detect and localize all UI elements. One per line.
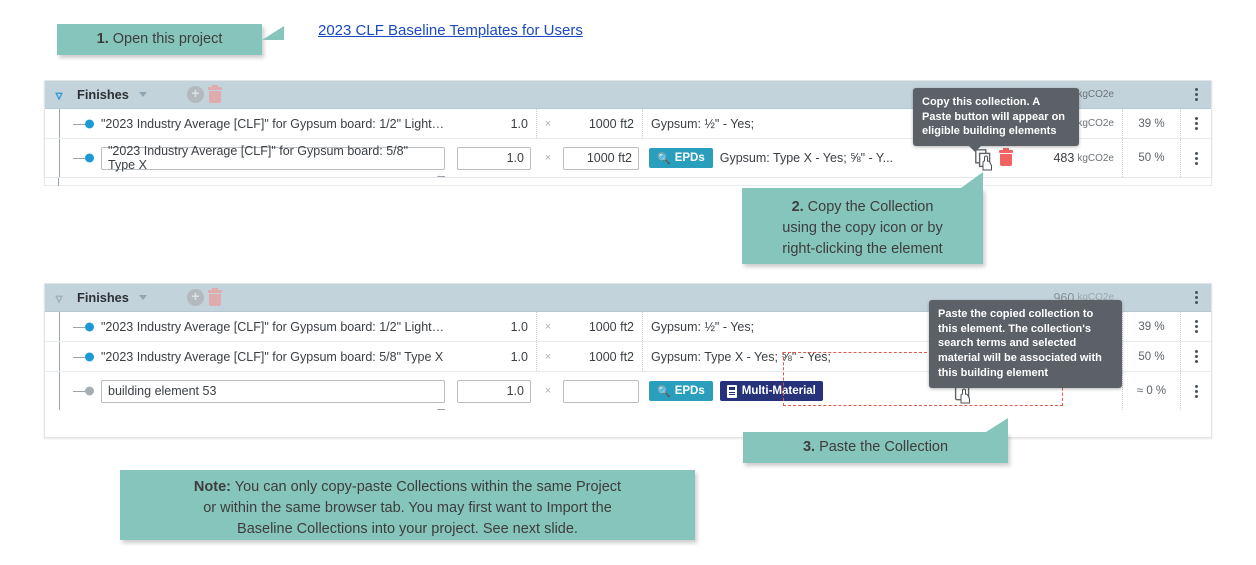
epds-button[interactable]: 🔍 EPDs	[649, 381, 713, 401]
callout-step-3-number: 3.	[803, 439, 815, 455]
epds-button-label: EPDs	[675, 152, 705, 164]
row-tree-connector	[73, 109, 99, 138]
material-value: Gypsum: Type X - Yes; ⅝" - Yes;	[651, 350, 831, 364]
multiply-icon: ×	[537, 109, 559, 138]
row-kebab-cell[interactable]	[1181, 139, 1211, 177]
multi-material-button-label: Multi-Material	[742, 385, 816, 397]
group-expand-rail: ▿	[45, 284, 73, 311]
paste-tooltip: Paste the copied collection to this elem…	[929, 300, 1122, 388]
unit-cell[interactable]: 1000 ft2	[559, 109, 643, 138]
row-rail	[45, 372, 73, 410]
paste-tooltip-text: Paste the copied collection to this elem…	[938, 308, 1102, 379]
row-kebab-cell[interactable]	[1181, 312, 1211, 341]
callout-step-2-line-1: 2. Copy the Collection	[754, 197, 971, 218]
multi-material-button[interactable]: Multi-Material	[720, 381, 823, 401]
unit-value: 1000 ft2	[589, 117, 634, 131]
resize-grip-icon[interactable]	[437, 402, 445, 410]
unit-value: 1000 ft2	[589, 350, 634, 364]
element-status-dot-icon	[85, 322, 94, 331]
callout-step-3-tail	[986, 418, 1008, 432]
group-options-caret-icon[interactable]	[139, 92, 147, 97]
row-kebab-cell[interactable]	[1181, 342, 1211, 371]
element-status-dot-icon	[85, 154, 94, 163]
percent-value: 39 %	[1138, 118, 1164, 130]
quantity-cell[interactable]: 1.0	[451, 312, 537, 341]
callout-step-1-number: 1.	[97, 31, 109, 47]
quantity-cell[interactable]: 1.0	[451, 139, 537, 177]
percent-cell: ≈ 0 %	[1123, 372, 1181, 410]
chevron-down-icon[interactable]: ▿	[55, 88, 62, 102]
group-action-icons: +	[187, 289, 222, 306]
delete-group-icon[interactable]	[208, 290, 222, 306]
group-kebab-cell[interactable]	[1181, 284, 1211, 311]
quantity-value: 1.0	[507, 384, 524, 398]
row-more-options-icon[interactable]	[1195, 350, 1198, 363]
note-line-2: or within the same browser tab. You may …	[132, 498, 683, 519]
group-more-options-icon[interactable]	[1195, 291, 1198, 304]
group-mult-cell	[537, 284, 559, 311]
row-kebab-cell[interactable]	[1181, 372, 1211, 410]
callout-step-3-text: 3. Paste the Collection	[803, 437, 948, 458]
callout-step-1-tail	[262, 26, 284, 40]
element-name-cell[interactable]: "2023 Industry Average [CLF]" for Gypsum…	[99, 139, 451, 177]
quantity-cell[interactable]: 1.0	[451, 342, 537, 371]
group-unit-cell	[559, 81, 643, 108]
element-name: "2023 Industry Average [CLF]" for Gypsum…	[101, 350, 443, 364]
percent-cell: 50 %	[1123, 342, 1181, 371]
element-name: "2023 Industry Average [CLF]" for Gypsum…	[101, 117, 451, 131]
delete-element-icon[interactable]	[999, 150, 1013, 166]
unit-cell[interactable]: 1000 ft2	[559, 139, 643, 177]
element-name-cell[interactable]: "2023 Industry Average [CLF]" for Gypsum…	[99, 312, 451, 341]
quantity-cell[interactable]: 1.0	[451, 109, 537, 138]
row-kebab-cell[interactable]	[1181, 109, 1211, 138]
group-co2-unit: kgCO2e	[1077, 89, 1114, 100]
percent-cell: 39 %	[1123, 312, 1181, 341]
multiply-icon: ×	[537, 312, 559, 341]
multiply-icon: ×	[537, 342, 559, 371]
quantity-value: 1.0	[507, 151, 524, 165]
group-header-main: Finishes +	[73, 284, 451, 311]
element-name-input-value: "2023 Industry Average [CLF]" for Gypsum…	[108, 144, 438, 172]
callout-step-2-tail	[961, 172, 983, 188]
row-more-options-icon[interactable]	[1195, 320, 1198, 333]
table-1-partial-row	[44, 178, 1212, 186]
group-header-main: Finishes +	[73, 81, 451, 108]
group-more-options-icon[interactable]	[1195, 88, 1198, 101]
group-mult-cell	[537, 81, 559, 108]
unit-input[interactable]	[563, 380, 639, 403]
percent-value: 50 %	[1138, 152, 1164, 164]
group-kebab-cell[interactable]	[1181, 81, 1211, 108]
row-rail	[45, 109, 73, 138]
element-name-input[interactable]: "2023 Industry Average [CLF]" for Gypsum…	[101, 147, 445, 170]
element-name-cell[interactable]: "2023 Industry Average [CLF]" for Gypsum…	[99, 342, 451, 371]
table-1-partial-row-rail	[58, 178, 59, 186]
search-icon: 🔍	[657, 385, 671, 398]
element-name: "2023 Industry Average [CLF]" for Gypsum…	[101, 320, 451, 334]
element-name-input-value: building element 53	[108, 384, 216, 398]
epds-button[interactable]: 🔍 EPDs	[649, 148, 713, 168]
group-qty-cell	[451, 81, 537, 108]
co2-value: 483	[1053, 151, 1074, 165]
resize-grip-icon[interactable]	[437, 169, 445, 177]
callout-step-1-text: 1. Open this project	[97, 29, 223, 50]
slide-canvas: 1. Open this project 2023 CLF Baseline T…	[0, 0, 1256, 565]
row-rail	[45, 342, 73, 371]
co2-unit: kgCO2e	[1077, 118, 1114, 129]
search-icon: 🔍	[657, 152, 671, 165]
row-tree-connector	[73, 372, 99, 410]
tooltip-arrow	[969, 146, 981, 152]
element-name-cell[interactable]: "2023 Industry Average [CLF]" for Gypsum…	[99, 109, 451, 138]
row-rail	[45, 312, 73, 341]
unit-value: 1000 ft2	[587, 151, 632, 165]
group-expand-rail: ▿	[45, 81, 73, 108]
unit-cell[interactable]	[559, 372, 643, 410]
percent-cell: 50 %	[1123, 139, 1181, 177]
material-value: Gypsum: ½" - Yes;	[651, 117, 754, 131]
element-status-dot-icon	[85, 119, 94, 128]
material-value: Gypsum: Type X - Yes; ⅝" - Y...	[720, 151, 968, 165]
element-status-dot-icon	[85, 387, 94, 396]
multiply-icon: ×	[537, 372, 559, 410]
unit-value: 1000 ft2	[589, 320, 634, 334]
callout-note: Note: You can only copy-paste Collection…	[120, 470, 695, 540]
row-tree-connector	[73, 342, 99, 371]
note-line-1: Note: You can only copy-paste Collection…	[132, 477, 683, 498]
callout-step-2-line-2: using the copy icon or by	[754, 218, 971, 239]
element-name-cell[interactable]: building element 53	[99, 372, 451, 410]
project-link[interactable]: 2023 CLF Baseline Templates for Users	[318, 22, 583, 39]
quantity-value: 1.0	[511, 350, 528, 364]
element-name-input[interactable]: building element 53	[101, 380, 445, 403]
row-rail	[45, 139, 73, 177]
quantity-input[interactable]: 1.0	[457, 147, 531, 170]
unit-cell[interactable]: 1000 ft2	[559, 312, 643, 341]
epds-button-label: EPDs	[675, 385, 705, 397]
callout-step-1: 1. Open this project	[57, 24, 262, 55]
group-qty-cell	[451, 284, 537, 311]
co2-unit: kgCO2e	[1077, 153, 1114, 164]
unit-input[interactable]: 1000 ft2	[563, 147, 639, 170]
add-element-icon[interactable]: +	[187, 86, 204, 103]
callout-step-3: 3. Paste the Collection	[743, 432, 1008, 463]
copy-tooltip: Copy this collection. A Paste button wil…	[913, 88, 1079, 146]
material-value: Gypsum: ½" - Yes;	[651, 320, 754, 334]
row-more-options-icon[interactable]	[1195, 152, 1198, 165]
group-unit-cell	[559, 284, 643, 311]
element-status-dot-icon	[85, 352, 94, 361]
group-pct-cell	[1123, 284, 1181, 311]
callout-step-2: 2. Copy the Collection using the copy ic…	[742, 188, 983, 264]
quantity-value: 1.0	[511, 320, 528, 334]
percent-cell: 39 %	[1123, 109, 1181, 138]
row-more-options-icon[interactable]	[1195, 117, 1198, 130]
note-line-3: Baseline Collections into your project. …	[132, 519, 683, 540]
copy-tooltip-text: Copy this collection. A Paste button wil…	[922, 96, 1065, 137]
multi-material-icon	[727, 385, 737, 398]
percent-value: ≈ 0 %	[1137, 385, 1166, 397]
percent-value: 39 %	[1138, 321, 1164, 333]
unit-cell[interactable]: 1000 ft2	[559, 342, 643, 371]
quantity-input[interactable]: 1.0	[457, 380, 531, 403]
group-pct-cell	[1123, 81, 1181, 108]
note-label: Note:	[194, 479, 231, 495]
group-action-icons: +	[187, 86, 222, 103]
percent-value: 50 %	[1138, 351, 1164, 363]
callout-step-2-line-3: right-clicking the element	[754, 239, 971, 260]
add-element-icon[interactable]: +	[187, 289, 204, 306]
row-more-options-icon[interactable]	[1195, 385, 1198, 398]
multiply-icon: ×	[537, 139, 559, 177]
group-options-caret-icon[interactable]	[139, 295, 147, 300]
row-tree-connector	[73, 139, 99, 177]
row-tree-connector	[73, 312, 99, 341]
quantity-cell[interactable]: 1.0	[451, 372, 537, 410]
group-title: Finishes	[73, 290, 129, 305]
delete-group-icon[interactable]	[208, 87, 222, 103]
group-title: Finishes	[73, 87, 129, 102]
chevron-down-icon[interactable]: ▿	[55, 291, 62, 305]
quantity-value: 1.0	[511, 117, 528, 131]
